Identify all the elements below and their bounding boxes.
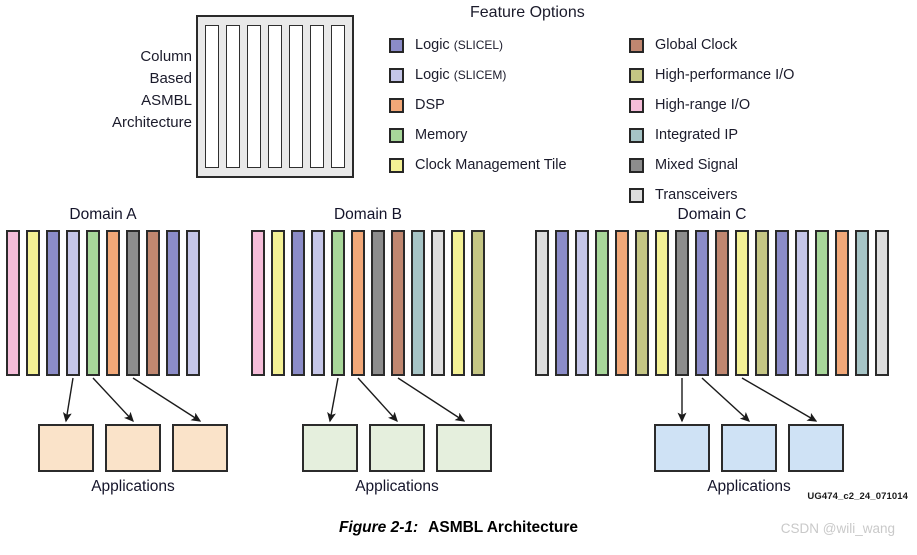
domain-column-logic-slicel[interactable] (775, 230, 789, 376)
domain-c: Domain C (535, 206, 889, 376)
domain-column-logic-slicel[interactable] (291, 230, 305, 376)
domain-column-dsp[interactable] (351, 230, 365, 376)
application-box[interactable] (38, 424, 94, 472)
legend-label-integrated-ip: Integrated IP (655, 127, 738, 143)
legend-item-integrated-ip[interactable]: Integrated IP (629, 120, 794, 150)
domain-columns-b (251, 230, 485, 376)
asmbl-architecture-figure: ColumnBasedASMBLArchitecture Feature Opt… (0, 0, 917, 555)
legend-swatch-logic-slicel (389, 38, 404, 53)
domain-column-logic-slicem[interactable] (66, 230, 80, 376)
architecture-label: ColumnBasedASMBLArchitecture (100, 46, 192, 134)
domain-column-logic-slicel[interactable] (166, 230, 180, 376)
legend-swatch-dsp (389, 98, 404, 113)
domain-columns-c (535, 230, 889, 376)
domain-column-dsp[interactable] (615, 230, 629, 376)
legend-item-global-clock[interactable]: Global Clock (629, 30, 794, 60)
arrow-b-0 (330, 378, 338, 421)
legend-column-right: Global ClockHigh-performance I/OHigh-ran… (629, 30, 794, 210)
application-box[interactable] (436, 424, 492, 472)
legend-swatch-logic-slicem (389, 68, 404, 83)
domain-title-a: Domain A (6, 206, 200, 224)
application-box[interactable] (369, 424, 425, 472)
application-boxes-c (654, 424, 844, 472)
domain-title-b: Domain B (251, 206, 485, 224)
legend-label-sub-logic-slicel: (SLICEL) (454, 38, 503, 52)
architecture-label-line-2: ASMBL (100, 90, 192, 112)
domain-column-clock-management-tile[interactable] (735, 230, 749, 376)
legend-label-memory: Memory (415, 127, 467, 143)
domain-column-transceivers[interactable] (875, 230, 889, 376)
arrow-c-1 (702, 378, 749, 421)
asmbl-chip-column (289, 25, 303, 168)
arrow-a-1 (93, 378, 133, 421)
asmbl-chip-column (226, 25, 240, 168)
arrow-c-2 (742, 378, 816, 421)
legend-label-logic-slicem: Logic (SLICEM) (415, 67, 506, 83)
legend-column-left: Logic (SLICEL)Logic (SLICEM)DSPMemoryClo… (389, 30, 567, 180)
legend-item-dsp[interactable]: DSP (389, 90, 567, 120)
domain-column-dsp[interactable] (106, 230, 120, 376)
domain-column-logic-slicem[interactable] (186, 230, 200, 376)
legend-label-high-range-io: High-range I/O (655, 97, 750, 113)
applications-label-a: Applications (38, 478, 228, 496)
domain-column-high-range-io[interactable] (251, 230, 265, 376)
architecture-label-line-3: Architecture (100, 112, 192, 134)
domain-column-logic-slicem[interactable] (575, 230, 589, 376)
legend-item-high-performance-io[interactable]: High-performance I/O (629, 60, 794, 90)
applications-label-b: Applications (302, 478, 492, 496)
domain-column-transceivers[interactable] (535, 230, 549, 376)
domain-b: Domain B (251, 206, 485, 376)
domain-column-memory[interactable] (815, 230, 829, 376)
application-box[interactable] (302, 424, 358, 472)
legend-item-logic-slicem[interactable]: Logic (SLICEM) (389, 60, 567, 90)
arrow-a-2 (133, 378, 200, 421)
domain-column-logic-slicel[interactable] (555, 230, 569, 376)
legend-item-logic-slicel[interactable]: Logic (SLICEL) (389, 30, 567, 60)
legend-swatch-memory (389, 128, 404, 143)
figure-title: ASMBL Architecture (428, 519, 578, 536)
watermark: CSDN @wili_wang (781, 521, 895, 536)
asmbl-chip-column (205, 25, 219, 168)
domain-columns-a (6, 230, 200, 376)
legend-label-mixed-signal: Mixed Signal (655, 157, 738, 173)
applications-label-c: Applications (654, 478, 844, 496)
legend-label-high-performance-io: High-performance I/O (655, 67, 794, 83)
asmbl-chip-column (247, 25, 261, 168)
legend-swatch-transceivers (629, 188, 644, 203)
asmbl-chip-column (331, 25, 345, 168)
architecture-label-line-1: Based (100, 68, 192, 90)
legend-label-logic-slicel: Logic (SLICEL) (415, 37, 503, 53)
domain-column-high-performance-io[interactable] (471, 230, 485, 376)
legend-swatch-global-clock (629, 38, 644, 53)
domain-column-logic-slicel[interactable] (46, 230, 60, 376)
asmbl-chip-column (310, 25, 324, 168)
asmbl-chip-diagram (196, 15, 354, 178)
figure-caption: Figure 2-1:ASMBL Architecture (0, 519, 917, 537)
application-box[interactable] (654, 424, 710, 472)
domain-column-clock-management-tile[interactable] (451, 230, 465, 376)
legend-swatch-integrated-ip (629, 128, 644, 143)
domain-column-high-performance-io[interactable] (755, 230, 769, 376)
legend-swatch-mixed-signal (629, 158, 644, 173)
domain-column-logic-slicem[interactable] (795, 230, 809, 376)
arrow-b-1 (358, 378, 397, 421)
domain-a: Domain A (6, 206, 200, 376)
legend-label-sub-logic-slicem: (SLICEM) (454, 68, 507, 82)
domain-column-clock-management-tile[interactable] (655, 230, 669, 376)
domain-column-clock-management-tile[interactable] (26, 230, 40, 376)
legend-label-clock-management-tile: Clock Management Tile (415, 157, 567, 173)
asmbl-chip-column (268, 25, 282, 168)
legend-swatch-clock-management-tile (389, 158, 404, 173)
legend-item-mixed-signal[interactable]: Mixed Signal (629, 150, 794, 180)
domain-column-global-clock[interactable] (715, 230, 729, 376)
application-box[interactable] (721, 424, 777, 472)
architecture-label-line-0: Column (100, 46, 192, 68)
domain-column-transceivers[interactable] (431, 230, 445, 376)
domain-column-clock-management-tile[interactable] (271, 230, 285, 376)
domain-column-high-performance-io[interactable] (635, 230, 649, 376)
legend-item-high-range-io[interactable]: High-range I/O (629, 90, 794, 120)
legend-swatch-high-performance-io (629, 68, 644, 83)
domain-column-logic-slicem[interactable] (311, 230, 325, 376)
arrow-b-2 (398, 378, 464, 421)
domain-column-global-clock[interactable] (391, 230, 405, 376)
domain-column-global-clock[interactable] (146, 230, 160, 376)
domain-column-mixed-signal[interactable] (371, 230, 385, 376)
legend-label-dsp: DSP (415, 97, 445, 113)
domain-column-memory[interactable] (595, 230, 609, 376)
domain-column-dsp[interactable] (835, 230, 849, 376)
application-box[interactable] (105, 424, 161, 472)
legend-title: Feature Options (470, 4, 585, 22)
domain-column-integrated-ip[interactable] (855, 230, 869, 376)
figure-number: Figure 2-1: (339, 519, 418, 536)
application-boxes-a (38, 424, 228, 472)
arrow-a-0 (66, 378, 73, 421)
legend-item-memory[interactable]: Memory (389, 120, 567, 150)
domain-column-mixed-signal[interactable] (126, 230, 140, 376)
application-box[interactable] (788, 424, 844, 472)
domain-title-c: Domain C (535, 206, 889, 224)
application-boxes-b (302, 424, 492, 472)
domain-column-memory[interactable] (86, 230, 100, 376)
domain-column-memory[interactable] (331, 230, 345, 376)
domain-column-high-range-io[interactable] (6, 230, 20, 376)
application-box[interactable] (172, 424, 228, 472)
domain-column-integrated-ip[interactable] (411, 230, 425, 376)
legend-swatch-high-range-io (629, 98, 644, 113)
domain-column-logic-slicel[interactable] (695, 230, 709, 376)
legend-label-global-clock: Global Clock (655, 37, 737, 53)
legend-item-clock-management-tile[interactable]: Clock Management Tile (389, 150, 567, 180)
domain-column-mixed-signal[interactable] (675, 230, 689, 376)
legend-label-transceivers: Transceivers (655, 187, 737, 203)
